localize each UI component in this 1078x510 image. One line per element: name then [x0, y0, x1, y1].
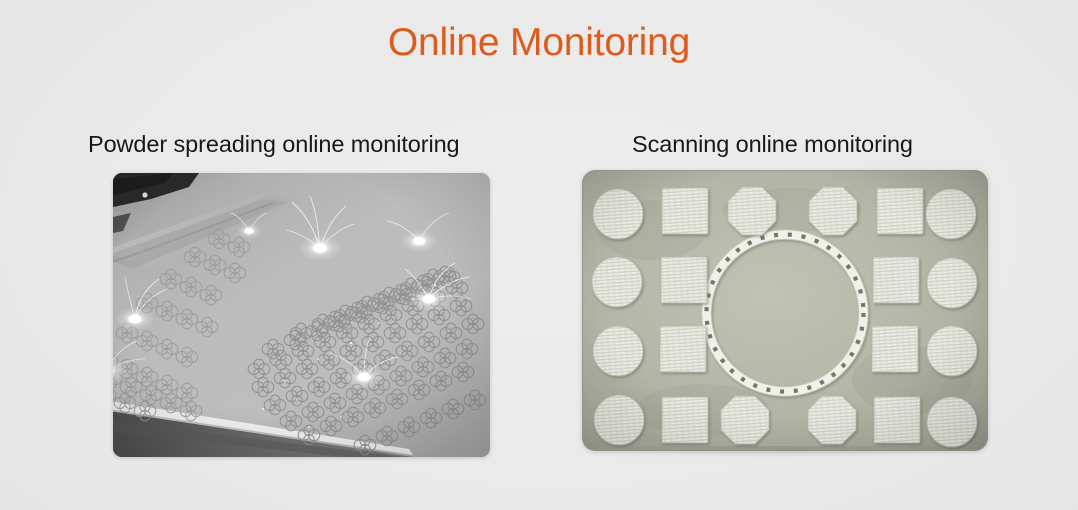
page-title: Online Monitoring	[0, 21, 1078, 65]
powder-bed-photo	[113, 173, 490, 457]
powder-bed-illustration	[113, 173, 490, 457]
figure-powder-spreading-monitoring	[113, 173, 490, 457]
caption-powder-spreading: Powder spreading online monitoring	[88, 131, 460, 158]
figure-scanning-monitoring	[582, 170, 988, 451]
slide-canvas: Online Monitoring Powder spreading onlin…	[0, 0, 1078, 510]
build-plate-illustration	[582, 170, 988, 451]
caption-scanning: Scanning online monitoring	[632, 131, 913, 158]
